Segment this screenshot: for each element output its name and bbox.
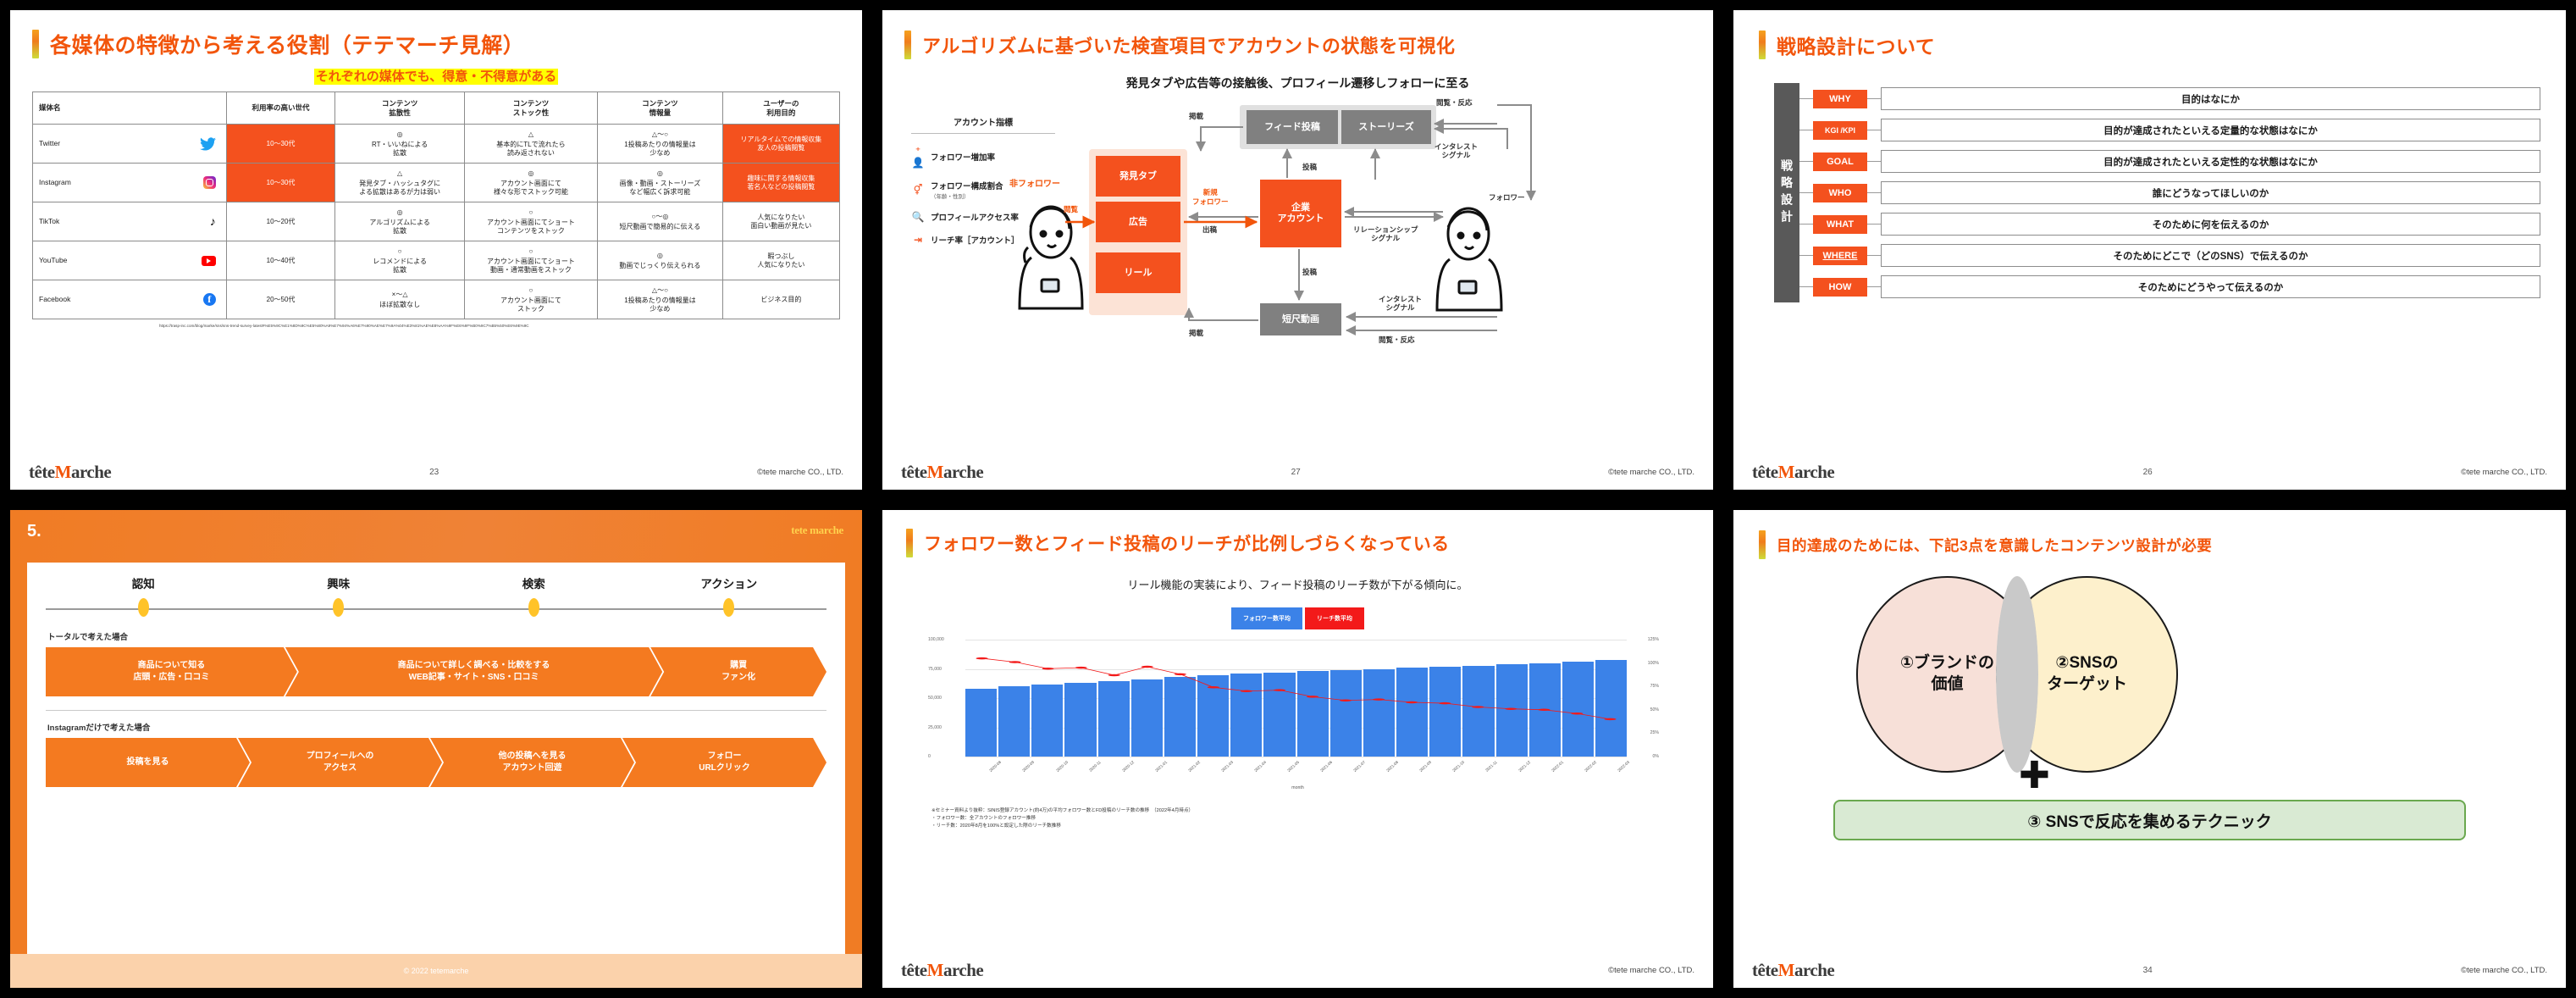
cell-stock: △基本的にTLで流れたら読み返されない bbox=[464, 125, 597, 164]
media-name-label: Twitter bbox=[39, 139, 60, 148]
logo-prefix: tête bbox=[29, 462, 55, 482]
table-header-row: 媒体名 利用率の高い世代 コンテンツ 拡散性 コンテンツ ストック性 コンテンツ bbox=[33, 92, 840, 125]
cell-purpose: 暇つぶし人気になりたい bbox=[722, 241, 839, 280]
th-media-name: 媒体名 bbox=[33, 92, 227, 125]
cell-generation: 10〜30代 bbox=[226, 125, 335, 164]
slide2-title-row: アルゴリズムに基づいた検査項目でアカウントの状態を可視化 bbox=[904, 30, 1691, 59]
page-title: フォロワー数とフィード投稿のリーチが比例しづらくなっている bbox=[924, 530, 1450, 556]
flow-step-text: 商品について知る店頭・広告・口コミ bbox=[133, 660, 209, 684]
label-browse-react-top: 閲覧・反応 bbox=[1436, 98, 1473, 107]
chip-label: GOAL bbox=[1827, 157, 1854, 167]
flow-step-l1: 商品について知る bbox=[138, 661, 206, 670]
th-label-l1: コンテンツ bbox=[382, 99, 418, 108]
stage-dot-icon bbox=[528, 598, 539, 617]
line-marker bbox=[1208, 686, 1219, 688]
label-post-bottom2: 掲載 bbox=[1189, 329, 1203, 337]
th-label: 媒体名 bbox=[39, 103, 61, 112]
brand-logo-small: tete marche bbox=[791, 524, 843, 537]
cell-purpose: 趣味に関する情報収集著名人などの投稿閲覧 bbox=[722, 164, 839, 202]
slide2-lead: 発見タブや広告等の接触後、プロフィール遷移しフォローに至る bbox=[904, 75, 1691, 91]
cell-media-name: Facebookf bbox=[33, 280, 227, 319]
connector-line bbox=[1799, 130, 1813, 130]
th-label-l1: コンテンツ bbox=[513, 99, 550, 108]
flow-step-l1: 購買 bbox=[730, 661, 747, 670]
flow-step-text: 商品について詳しく調べる・比較をするWEB記事・サイト・SNS・口コミ bbox=[398, 660, 550, 684]
chip-label: WHAT bbox=[1827, 219, 1854, 230]
copyright: ©tete marche CO., LTD. bbox=[1608, 468, 1694, 477]
x-tick-label: 2021-12 bbox=[1518, 760, 1532, 773]
slide-cell-1: 各媒体の特徴から考える役割（テテマーチ見解） それぞれの媒体でも、得意・不得意が… bbox=[0, 0, 872, 500]
title-accent-bar bbox=[906, 529, 913, 557]
strategy-rows: WHY目的はなにかKGI /KPI目的が達成されたといえる定量的な状態はなにかG… bbox=[1799, 83, 2540, 302]
logo-suffix: arche bbox=[1794, 960, 1834, 980]
flow-step: 投稿を見る bbox=[46, 738, 250, 787]
flow-step: 購買ファン化 bbox=[650, 647, 826, 696]
youtube-icon bbox=[202, 256, 216, 266]
chart-note: ・フォロワー数：全アカウントのフォロワー推移 bbox=[931, 815, 1689, 823]
rating-mark: △〜○ bbox=[600, 130, 721, 139]
journey-stage-label: アクション bbox=[632, 574, 827, 591]
logo-prefix: tête bbox=[1752, 462, 1778, 482]
chart-container: 100,00075,00050,00025,0000 125%100%75%50… bbox=[925, 636, 1671, 779]
chip-label: WHY bbox=[1829, 94, 1851, 104]
strategy-question: 目的はなにか bbox=[1881, 87, 2540, 110]
label-publish: 出稿 bbox=[1202, 225, 1217, 234]
line-marker bbox=[1108, 674, 1120, 676]
flow-step-l2: ファン化 bbox=[721, 673, 755, 682]
x-tick-label: 2020-09 bbox=[1022, 760, 1036, 773]
section-number: 5. bbox=[27, 522, 41, 541]
flow-step-l1: フォロー bbox=[708, 751, 742, 761]
y2-tick-label: 50% bbox=[1650, 707, 1659, 712]
journey-dot-cell bbox=[241, 598, 437, 617]
y-tick-label: 100,000 bbox=[928, 637, 944, 642]
connector-line bbox=[1867, 130, 1881, 130]
flow-step-l2: 店頭・広告・口コミ bbox=[133, 673, 209, 682]
x-tick-label: 2021-04 bbox=[1253, 760, 1267, 773]
twitter-icon bbox=[200, 137, 216, 151]
logo-mark: M bbox=[1778, 960, 1794, 980]
line-marker bbox=[1009, 661, 1021, 663]
copyright: ©tete marche CO., LTD. bbox=[2461, 966, 2547, 975]
slide-cell-3: 戦略設計について 戦略設計 WHY目的はなにかKGI /KPI目的が達成されたと… bbox=[1723, 0, 2576, 500]
strategy-row: WHEREそのためにどこで（どのSNS）で伝えるのか bbox=[1799, 240, 2540, 271]
strategy-chip: KGI /KPI bbox=[1813, 121, 1867, 140]
stage-dot-icon bbox=[138, 598, 149, 617]
chart-plot-area bbox=[965, 640, 1627, 757]
copyright: ©tete marche CO., LTD. bbox=[757, 468, 843, 477]
interest-l1: インタレスト bbox=[1434, 142, 1478, 151]
rating-mark: ○ bbox=[467, 247, 595, 256]
page-number: 34 bbox=[2143, 966, 2153, 975]
x-tick-label: 2021-02 bbox=[1187, 760, 1201, 773]
journey-dot-cell bbox=[632, 598, 827, 617]
flow-step-text: 購買ファン化 bbox=[721, 660, 755, 684]
slide-algorithm-diagram: アルゴリズムに基づいた検査項目でアカウントの状態を可視化 発見タブや広告等の接触… bbox=[882, 10, 1713, 490]
line-marker bbox=[1571, 712, 1583, 714]
brand-logo: têteMarche bbox=[29, 462, 111, 483]
cell-stock: ○アカウント画面にてショートコンテンツをストック bbox=[464, 202, 597, 241]
total-flow-chevrons: 商品について知る店頭・広告・口コミ商品について詳しく調べる・比較をするWEB記事… bbox=[46, 647, 826, 696]
strategy-row: WHO誰にどうなってほしいのか bbox=[1799, 177, 2540, 208]
source-note: https://trasp-inc.com/blog/marke/sns/sns… bbox=[32, 324, 840, 329]
line-marker bbox=[1439, 702, 1451, 704]
chip-label: WHO bbox=[1829, 188, 1852, 198]
slide5-lead: リール機能の実装により、フィード投稿のリーチ数が下がる傾向に。 bbox=[906, 576, 1689, 592]
slide-strategy-design: 戦略設計について 戦略設計 WHY目的はなにかKGI /KPI目的が達成されたと… bbox=[1733, 10, 2566, 490]
instagram-icon bbox=[203, 176, 216, 189]
rating-mark: △〜○ bbox=[600, 286, 721, 295]
title-accent-bar bbox=[1759, 530, 1766, 559]
connector-line bbox=[1867, 286, 1881, 287]
flow-step-l1: 他の投稿へを見る bbox=[499, 751, 567, 761]
journey-dot-cell bbox=[46, 598, 241, 617]
strategy-chart: 戦略設計 WHY目的はなにかKGI /KPI目的が達成されたといえる定量的な状態… bbox=[1759, 83, 2540, 302]
cell-media-name: TikTok♪ bbox=[33, 202, 227, 241]
connector-line bbox=[1867, 161, 1881, 162]
media-name-label: TikTok bbox=[39, 217, 59, 226]
journey-dots bbox=[46, 598, 826, 617]
x-tick-label: 2021-11 bbox=[1484, 760, 1498, 773]
cell-purpose: 人気になりたい面白い動画が見たい bbox=[722, 202, 839, 241]
interest-b-l1: インタレスト bbox=[1379, 295, 1422, 303]
chip-label: HOW bbox=[1829, 282, 1852, 292]
slide-customer-journey: 5. tete marche 認知興味検索アクション トータルで考えた場合 商品… bbox=[10, 510, 862, 988]
y2-tick-label: 0% bbox=[1653, 754, 1660, 759]
cell-stock: ○アカウント画面にてストック bbox=[464, 280, 597, 319]
label-post-mid: 投稿 bbox=[1302, 163, 1317, 171]
flow-step-l2: WEB記事・サイト・SNS・口コミ bbox=[409, 673, 539, 682]
strategy-question: そのためにどこで（どのSNS）で伝えるのか bbox=[1881, 244, 2540, 267]
th-generation: 利用率の高い世代 bbox=[226, 92, 335, 125]
venn-diagram: ①ブランドの 価値 ②SNSの ターゲット ✚ ③ SNSで反応を集めるテクニッ… bbox=[1759, 566, 2540, 820]
plus-sign-icon: ✚ bbox=[2019, 757, 2050, 795]
venn-right-text: ②SNSの ターゲット bbox=[2047, 653, 2127, 695]
strategy-row: WHATそのために何を伝えるのか bbox=[1799, 208, 2540, 240]
flow-step-l1: 投稿を見る bbox=[127, 757, 169, 767]
cell-info: △〜○1投稿あたりの情報量は少なめ bbox=[598, 125, 723, 164]
cell-stock: ◎アカウント画面にて様々な形でストック可能 bbox=[464, 164, 597, 202]
label-post-bottom: 投稿 bbox=[1302, 268, 1317, 276]
th-label-l1: コンテンツ bbox=[642, 99, 678, 108]
strategy-row: GOAL目的が達成されたといえる定性的な状態はなにか bbox=[1799, 146, 2540, 177]
flow-step: 商品について知る店頭・広告・口コミ bbox=[46, 647, 297, 696]
th-label-l2: 拡散性 bbox=[389, 108, 411, 117]
x-tick-label: 2020-10 bbox=[1055, 760, 1069, 773]
brand-logo: têteMarche bbox=[901, 462, 983, 483]
slide-cell-6: 目的達成のためには、下記3点を意識したコンテンツ設計が必要 ①ブランドの 価値 … bbox=[1723, 500, 2576, 998]
line-marker bbox=[1340, 700, 1352, 701]
technique-box: ③ SNSで反応を集めるテクニック bbox=[1833, 800, 2466, 840]
strategy-question: 誰にどうなってほしいのか bbox=[1881, 181, 2540, 204]
logo-mark: M bbox=[1778, 462, 1794, 482]
logo-mark: M bbox=[927, 960, 943, 980]
gridline bbox=[965, 757, 1627, 757]
slide-cell-2: アルゴリズムに基づいた検査項目でアカウントの状態を可視化 発見タブや広告等の接触… bbox=[872, 0, 1723, 500]
connector-line bbox=[1799, 98, 1813, 99]
table-row: Facebookf20〜50代×〜△ほぼ拡散なし○アカウント画面にてストック△〜… bbox=[33, 280, 840, 319]
chart-note: ・リーチ数：2020年8月を100%と設定した際のリーチ数推移 bbox=[931, 823, 1689, 830]
flow-step: プロフィールへのアクセス bbox=[238, 738, 442, 787]
slide4-topbar: 5. tete marche bbox=[10, 510, 862, 563]
x-tick-label: 2020-08 bbox=[989, 760, 1003, 773]
cell-generation: 20〜50代 bbox=[226, 280, 335, 319]
strategy-chip: HOW bbox=[1813, 278, 1867, 297]
strategy-question: 目的が達成されたといえる定量的な状態はなにか bbox=[1881, 119, 2540, 141]
y-tick-label: 75,000 bbox=[928, 667, 942, 672]
logo-suffix: arche bbox=[943, 462, 983, 482]
th-info: コンテンツ 情報量 bbox=[598, 92, 723, 125]
cell-spread: ◎アルゴリズムによる拡散 bbox=[335, 202, 464, 241]
line-marker bbox=[976, 657, 987, 659]
strategy-chip: WHO bbox=[1813, 184, 1867, 202]
slide5-title-row: フォロワー数とフィード投稿のリーチが比例しづらくなっている bbox=[906, 529, 1689, 557]
copyright: ©tete marche CO., LTD. bbox=[1608, 966, 1694, 975]
venn-left-text: ①ブランドの 価値 bbox=[1900, 653, 1994, 695]
strategy-row: HOWそのためにどうやって伝えるのか bbox=[1799, 271, 2540, 302]
cell-purpose: リアルタイムでの情報収集友人の投稿閲覧 bbox=[722, 125, 839, 164]
legend-item: リーチ数平均 bbox=[1305, 607, 1364, 629]
title-accent-bar bbox=[32, 30, 39, 58]
logo-prefix: tête bbox=[1752, 960, 1778, 980]
th-purpose: ユーザーの 利用目的 bbox=[722, 92, 839, 125]
chip-label: WHERE bbox=[1823, 251, 1858, 261]
y2-tick-label: 125% bbox=[1648, 637, 1659, 642]
strategy-question: 目的が達成されたといえる定性的な状態はなにか bbox=[1881, 150, 2540, 173]
connector-line bbox=[1867, 192, 1881, 193]
cell-generation: 10〜20代 bbox=[226, 202, 335, 241]
table-body: Twitter10〜30代◎RT・いいねによる拡散△基本的にTLで流れたら読み返… bbox=[33, 125, 840, 319]
chip-label: KGI /KPI bbox=[1825, 126, 1855, 135]
media-name-label: Instagram bbox=[39, 178, 71, 187]
line-marker bbox=[1274, 689, 1285, 690]
strategy-chip: WHY bbox=[1813, 90, 1867, 108]
venn-overlap-region bbox=[1996, 576, 2038, 773]
logo-suffix: arche bbox=[71, 462, 111, 482]
table-row: Instagram10〜30代△発見タブ・ハッシュタグによる拡散はあるが力は弱い… bbox=[33, 164, 840, 202]
strategy-row: KGI /KPI目的が達成されたといえる定量的な状態はなにか bbox=[1799, 114, 2540, 146]
connector-line bbox=[1867, 98, 1881, 99]
new-follower-l2: フォロワー bbox=[1192, 197, 1229, 206]
venn-right-l1: ②SNSの bbox=[2055, 654, 2118, 672]
rating-mark: ◎ bbox=[600, 169, 721, 178]
chart-line-series bbox=[965, 640, 1627, 757]
connector-line bbox=[1867, 255, 1881, 256]
label-view: 閲覧 bbox=[1064, 205, 1078, 213]
y-tick-label: 0 bbox=[928, 754, 931, 759]
title-accent-bar bbox=[904, 30, 911, 59]
connector-line bbox=[1867, 224, 1881, 225]
line-marker bbox=[1604, 718, 1616, 720]
slide1-title-row: 各媒体の特徴から考える役割（テテマーチ見解） bbox=[32, 29, 840, 59]
flow-step-l2: URLクリック bbox=[699, 763, 750, 773]
rating-mark: ○ bbox=[467, 208, 595, 217]
y2-tick-label: 25% bbox=[1650, 730, 1659, 735]
line-marker bbox=[1075, 667, 1087, 668]
chart-notes: ※セミナー資料より抜粋：SINIS登録アカウント(約4万)の平均フォロワー数とF… bbox=[906, 807, 1689, 830]
logo-suffix: arche bbox=[943, 960, 983, 980]
line-marker bbox=[1472, 706, 1484, 707]
th-label-l1: ユーザーの bbox=[763, 99, 799, 108]
slide-cell-5: フォロワー数とフィード投稿のリーチが比例しづらくなっている リール機能の実装によ… bbox=[872, 500, 1723, 998]
slide6-footer: têteMarche 34 ©tete marche CO., LTD. bbox=[1733, 960, 2566, 981]
x-tick-label: 2020-11 bbox=[1088, 760, 1102, 773]
line-marker bbox=[1142, 666, 1153, 668]
venn-left-l1: ①ブランドの bbox=[1900, 654, 1994, 672]
y-tick-label: 25,000 bbox=[928, 725, 942, 730]
journey-stage-label: 検索 bbox=[436, 574, 632, 591]
journey-stage-label: 興味 bbox=[241, 574, 437, 591]
x-tick-label: 2021-06 bbox=[1319, 760, 1333, 773]
x-tick-label: 2021-07 bbox=[1352, 760, 1366, 773]
th-spread: コンテンツ 拡散性 bbox=[335, 92, 464, 125]
cell-info: ◎動画でじっくり伝えられる bbox=[598, 241, 723, 280]
line-marker bbox=[1042, 668, 1054, 669]
cell-generation: 10〜30代 bbox=[226, 164, 335, 202]
label-non-follower: 非フォロワー bbox=[1009, 180, 1060, 190]
venn-right-l2: ターゲット bbox=[2047, 675, 2127, 693]
flow-step-l2: アクセス bbox=[323, 763, 357, 773]
media-comparison-table: 媒体名 利用率の高い世代 コンテンツ 拡散性 コンテンツ ストック性 コンテンツ bbox=[32, 91, 840, 319]
rating-mark: △ bbox=[467, 130, 595, 139]
logo-mark: M bbox=[927, 462, 943, 482]
cell-info: △〜○1投稿あたりの情報量は少なめ bbox=[598, 280, 723, 319]
line-marker bbox=[1307, 696, 1318, 697]
new-follower-l1: 新規 bbox=[1203, 188, 1218, 197]
slide3-title-row: 戦略設計について bbox=[1759, 30, 2540, 59]
brand-logo: têteMarche bbox=[1752, 960, 1834, 981]
label-browse-react-bottom: 閲覧・反応 bbox=[1379, 335, 1415, 344]
slide2-footer: têteMarche 27 ©tete marche CO., LTD. bbox=[882, 462, 1713, 483]
media-name-label: YouTube bbox=[39, 256, 67, 265]
rating-mark: ○ bbox=[467, 286, 595, 295]
rating-mark: ○〜◎ bbox=[600, 213, 721, 221]
interest-l2: シグナル bbox=[1442, 151, 1471, 159]
interest-b-l2: シグナル bbox=[1386, 303, 1415, 312]
page-title: 各媒体の特徴から考える役割（テテマーチ見解） bbox=[50, 29, 524, 59]
th-stock: コンテンツ ストック性 bbox=[464, 92, 597, 125]
x-tick-label: 2022-02 bbox=[1584, 760, 1598, 773]
caption-total: トータルで考えた場合 bbox=[47, 630, 826, 642]
cell-stock: ○アカウント画面にてショート動画・通常動画をストック bbox=[464, 241, 597, 280]
rating-mark: ◎ bbox=[337, 208, 462, 217]
flow-step: フォローURLクリック bbox=[622, 738, 826, 787]
slide5-footer: têteMarche ©tete marche CO., LTD. bbox=[882, 960, 1713, 981]
facebook-icon: f bbox=[203, 293, 216, 306]
copyright: ©tete marche CO., LTD. bbox=[2461, 468, 2547, 477]
cell-media-name: Twitter bbox=[33, 125, 227, 164]
line-marker bbox=[1373, 698, 1385, 700]
flow-step-text: 投稿を見る bbox=[127, 757, 169, 768]
flow-step-text: フォローURLクリック bbox=[699, 751, 750, 774]
th-label-l2: 利用目的 bbox=[766, 108, 795, 117]
strategy-chip: WHERE bbox=[1813, 247, 1867, 265]
strategy-chip: GOAL bbox=[1813, 152, 1867, 171]
flow-step-l1: 商品について詳しく調べる・比較をする bbox=[398, 661, 550, 670]
journey-stage-label: 認知 bbox=[46, 574, 241, 591]
account-flow-diagram: アカウント指標 ⁺👤フォロワー増加率⚥フォロワー構成割合（年齢・性別）🔍プロフィ… bbox=[904, 98, 1691, 395]
cell-media-name: YouTube bbox=[33, 241, 227, 280]
x-tick-label: 2021-10 bbox=[1451, 760, 1465, 773]
x-tick-label: 2022-01 bbox=[1551, 760, 1565, 773]
rating-mark: ◎ bbox=[600, 252, 721, 260]
strategy-question: そのために何を伝えるのか bbox=[1881, 213, 2540, 236]
stage-dot-icon bbox=[723, 598, 734, 617]
x-tick-label: 2021-03 bbox=[1220, 760, 1234, 773]
connector-line bbox=[1799, 255, 1813, 256]
section-divider bbox=[46, 710, 826, 711]
tiktok-icon: ♪ bbox=[210, 214, 216, 230]
strategy-row: WHY目的はなにか bbox=[1799, 83, 2540, 114]
page-number: 26 bbox=[2143, 468, 2153, 477]
logo-suffix: arche bbox=[1794, 462, 1834, 482]
page-title: 目的達成のためには、下記3点を意識したコンテンツ設計が必要 bbox=[1777, 535, 2212, 556]
th-label-l2: 情報量 bbox=[650, 108, 672, 117]
cell-purpose: ビジネス目的 bbox=[722, 280, 839, 319]
page-title: アルゴリズムに基づいた検査項目でアカウントの状態を可視化 bbox=[922, 31, 1455, 58]
slide-reach-chart: フォロワー数とフィード投稿のリーチが比例しづらくなっている リール機能の実装によ… bbox=[882, 510, 1713, 988]
page-number: 23 bbox=[429, 468, 439, 477]
label-post-top: 掲載 bbox=[1189, 112, 1203, 120]
slide1-footer: têteMarche 23 ©tete marche CO., LTD. bbox=[10, 462, 862, 483]
logo-mark: M bbox=[55, 462, 71, 482]
slide-content-design-venn: 目的達成のためには、下記3点を意識したコンテンツ設計が必要 ①ブランドの 価値 … bbox=[1733, 510, 2566, 988]
brand-logo: têteMarche bbox=[901, 960, 983, 981]
flow-step-l1: プロフィールへの bbox=[307, 751, 374, 761]
line-marker bbox=[1241, 690, 1252, 691]
cell-spread: ○レコメンドによる拡散 bbox=[335, 241, 464, 280]
stage-dot-icon bbox=[333, 598, 344, 617]
rating-mark: ◎ bbox=[337, 130, 462, 139]
label-interest-signal-top: インタレスト シグナル bbox=[1434, 142, 1478, 159]
rating-mark: ×〜△ bbox=[337, 291, 462, 299]
th-label-l2: ストック性 bbox=[513, 108, 550, 117]
rating-mark: ◎ bbox=[467, 169, 595, 178]
line-marker bbox=[1505, 707, 1517, 709]
chart-legend: フォロワー数平均リーチ数平均 bbox=[906, 607, 1689, 629]
y-tick-label: 50,000 bbox=[928, 696, 942, 701]
cell-info: ○〜◎短尺動画で簡易的に伝える bbox=[598, 202, 723, 241]
media-name-label: Facebook bbox=[39, 295, 70, 304]
strategy-spine-label: 戦略設計 bbox=[1774, 83, 1799, 302]
page-title: 戦略設計について bbox=[1777, 30, 1935, 59]
y2-tick-label: 100% bbox=[1648, 661, 1659, 666]
caption-instagram: Instagramだけで考えた場合 bbox=[47, 721, 826, 733]
logo-prefix: tête bbox=[901, 960, 927, 980]
title-accent-bar bbox=[1759, 30, 1766, 59]
x-tick-label: 2022-03 bbox=[1617, 760, 1631, 773]
journey-track bbox=[46, 598, 826, 620]
subtitle-highlight: それぞれの媒体でも、得意・不得意がある bbox=[314, 69, 559, 85]
cell-generation: 10〜40代 bbox=[226, 241, 335, 280]
table-row: YouTube10〜40代○レコメンドによる拡散○アカウント画面にてショート動画… bbox=[33, 241, 840, 280]
connector-line bbox=[1799, 161, 1813, 162]
logo-prefix: tête bbox=[901, 462, 927, 482]
flow-step-l2: アカウント回遊 bbox=[503, 763, 562, 773]
table-row: Twitter10〜30代◎RT・いいねによる拡散△基本的にTLで流れたら読み返… bbox=[33, 125, 840, 164]
x-tick-label: 2021-05 bbox=[1286, 760, 1300, 773]
relation-l1: リレーションシップ bbox=[1353, 225, 1418, 234]
strategy-chip: WHAT bbox=[1813, 215, 1867, 234]
journey-stages: 認知興味検索アクション bbox=[46, 574, 826, 591]
cell-info: ◎画像・動画・ストーリーズなど幅広く訴求可能 bbox=[598, 164, 723, 202]
x-tick-label: 2021-08 bbox=[1385, 760, 1399, 773]
flow-step: 商品について詳しく調べる・比較をするWEB記事・サイト・SNS・口コミ bbox=[285, 647, 662, 696]
y2-tick-label: 75% bbox=[1650, 684, 1659, 689]
journey-dot-cell bbox=[436, 598, 632, 617]
instagram-flow-chevrons: 投稿を見るプロフィールへのアクセス他の投稿へを見るアカウント回遊フォローURLク… bbox=[46, 738, 826, 787]
rating-mark: ○ bbox=[337, 247, 462, 256]
